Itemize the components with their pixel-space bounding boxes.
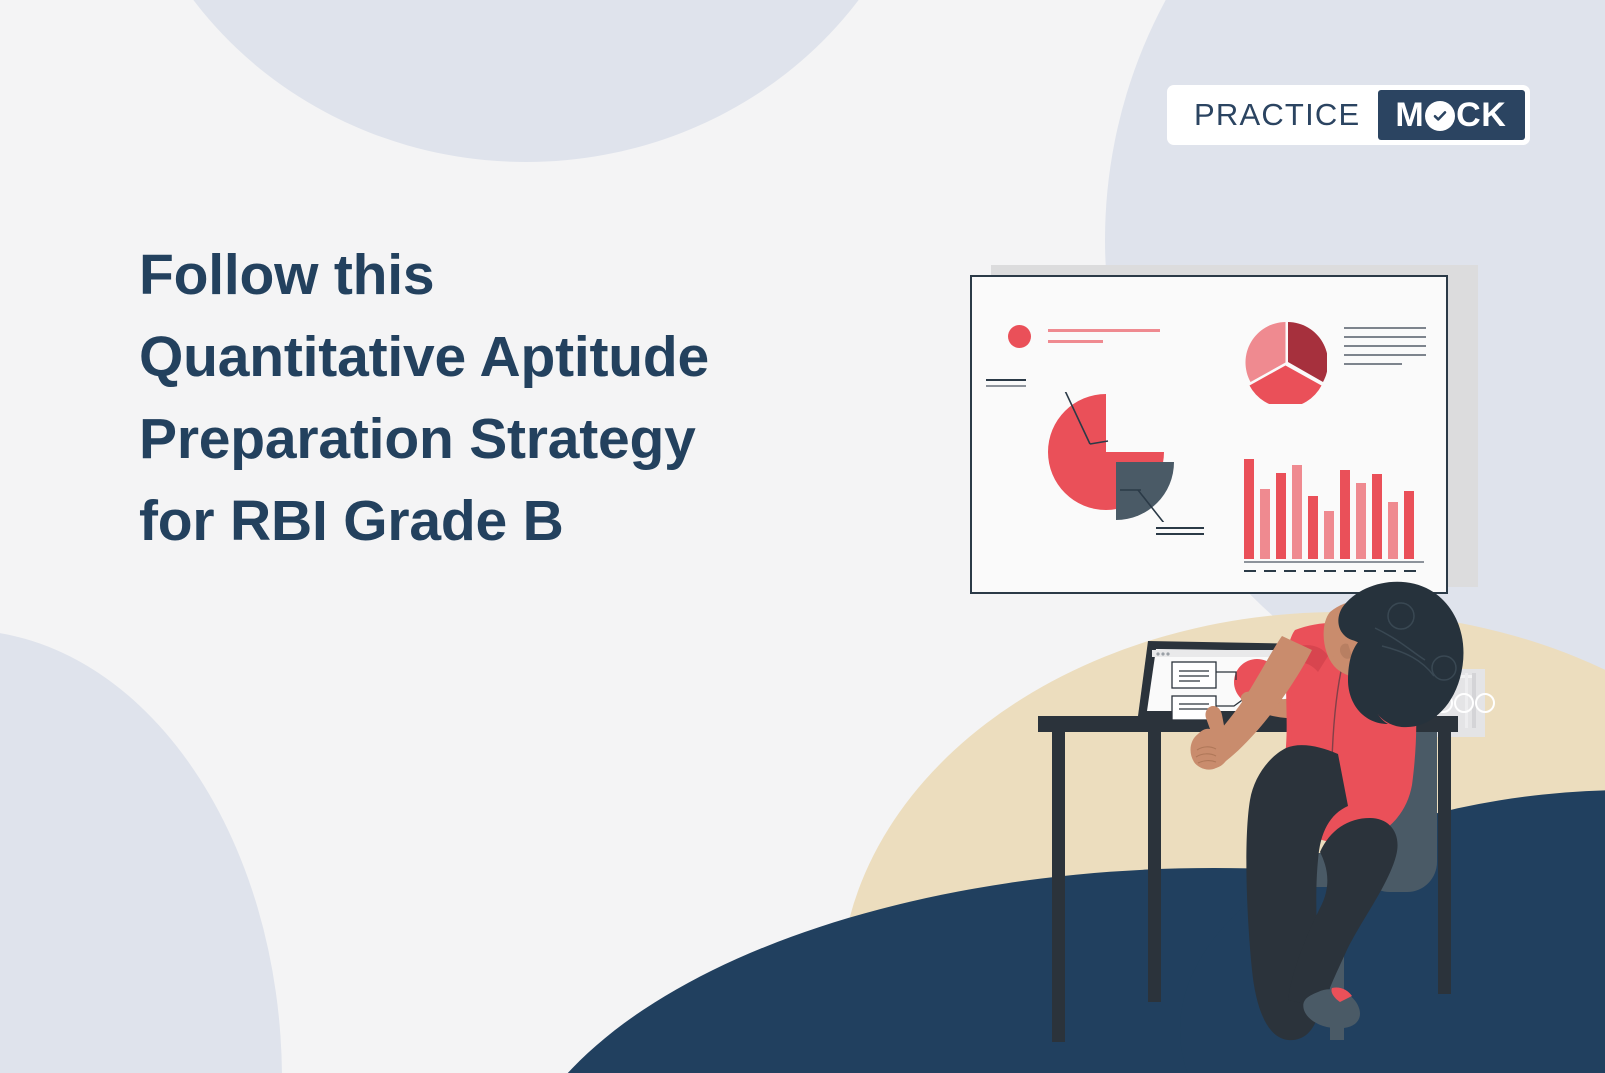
illustration-scene: [1030, 500, 1605, 1073]
headline-line-2: Quantitative Aptitude: [139, 316, 929, 398]
decorative-circle-top-left: [116, 0, 936, 162]
practicemock-logo[interactable]: PRACTICE M CK: [1167, 85, 1530, 145]
legend-text-line-long: [1048, 329, 1160, 332]
logo-mock-m: M: [1395, 96, 1424, 135]
headline-line-4: for RBI Grade B: [139, 480, 929, 562]
banner-canvas: PRACTICE M CK Follow this Quantitative A…: [0, 0, 1605, 1073]
logo-word-practice: PRACTICE: [1172, 90, 1378, 140]
pie-leader-label-upper: [986, 379, 1026, 387]
logo-mock-ck: CK: [1456, 96, 1506, 135]
pie-three-text-lines: [1344, 327, 1426, 372]
headline-line-3: Preparation Strategy: [139, 398, 929, 480]
headline-prefix: for: [139, 489, 230, 553]
decorative-circle-bottom-left: [0, 630, 282, 1073]
three-segment-pie-chart: [1244, 321, 1327, 404]
logo-word-mock: M CK: [1378, 90, 1525, 140]
legend-dot-icon: [1008, 325, 1031, 348]
legend-text-line-short: [1048, 340, 1103, 343]
hair: [1338, 582, 1463, 727]
headline-line-1: Follow this: [139, 234, 929, 316]
check-icon: [1425, 101, 1455, 131]
headline-emphasis: RBI Grade B: [230, 489, 564, 553]
page-title: Follow this Quantitative Aptitude Prepar…: [139, 234, 929, 562]
